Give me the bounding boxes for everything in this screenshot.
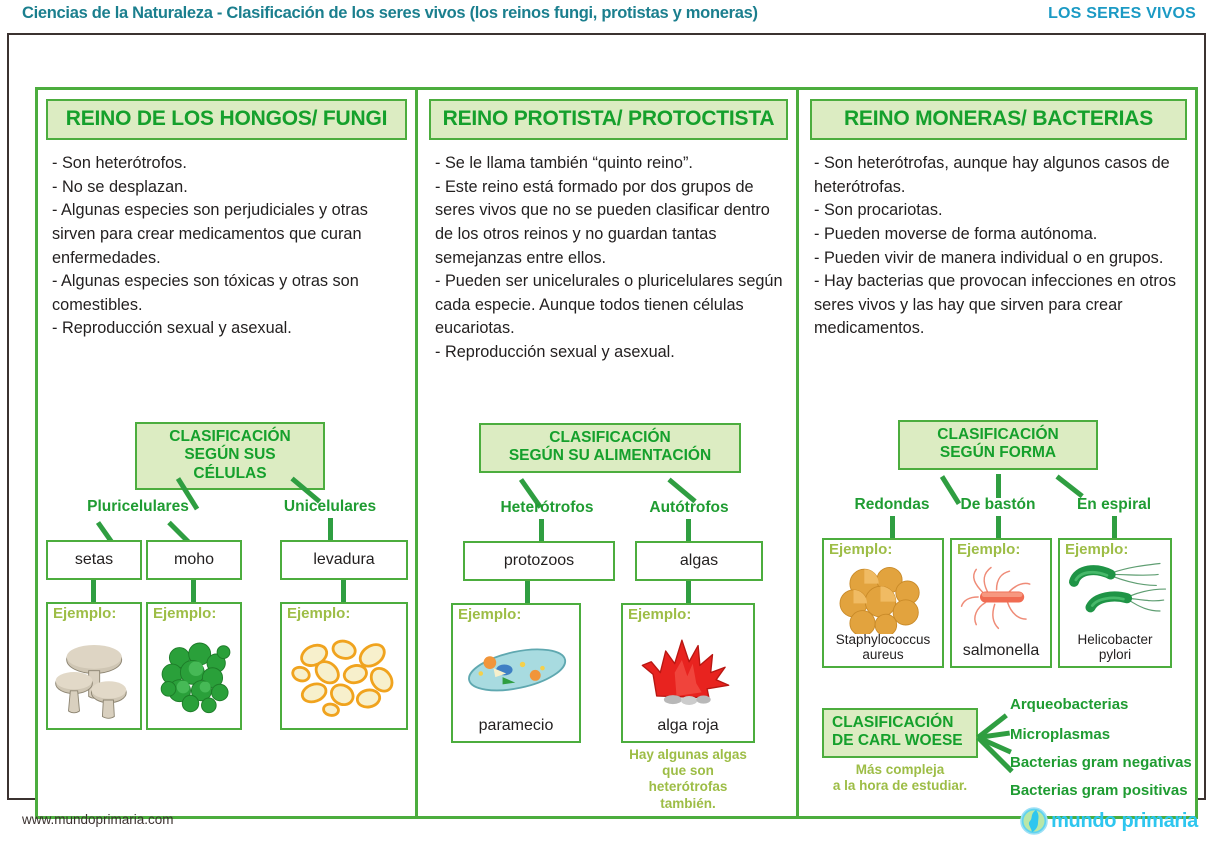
example-label: Ejemplo: bbox=[829, 541, 892, 558]
green-frame: REINO DE LOS HONGOS/ FUNGI - Son heterót… bbox=[35, 87, 1198, 819]
connector-line bbox=[191, 580, 196, 602]
woese-title-line2: DE CARL WOESE bbox=[832, 732, 966, 750]
term-box-protozoos: protozoos bbox=[463, 541, 615, 581]
paramecium-icon bbox=[459, 637, 577, 701]
category-label-en-espiral: En espiral bbox=[1052, 496, 1176, 514]
moneras-classification-box: CLASIFICACIÓN SEGÚN FORMA bbox=[898, 420, 1098, 470]
example-box-baston: Ejemplo: salmonella bbox=[950, 538, 1052, 668]
connector-line bbox=[328, 518, 333, 540]
bullet: - Este reino está formado por dos grupos… bbox=[435, 176, 784, 271]
bullet: - Pueden ser unicelurales o pluricelular… bbox=[435, 270, 784, 341]
algae-note-text: Hay algunas algas que son heterótrofas t… bbox=[629, 747, 747, 811]
column-header-fungi: REINO DE LOS HONGOS/ FUNGI bbox=[46, 99, 407, 140]
yeast-cells-icon bbox=[286, 628, 406, 724]
woese-title-line1: CLASIFICACIÓN bbox=[832, 714, 966, 732]
column-header-protista: REINO PROTISTA/ PROTOCTISTA bbox=[429, 99, 788, 140]
example-box-setas: Ejemplo: bbox=[46, 602, 142, 730]
cocci-cluster-icon bbox=[830, 562, 940, 634]
moneras-bullets: - Son heterótrofas, aunque hay algunos c… bbox=[814, 152, 1187, 341]
connector-line bbox=[341, 580, 346, 602]
term-box-setas: setas bbox=[46, 540, 142, 580]
classification-title-line1: CLASIFICACIÓN bbox=[491, 429, 729, 447]
connector-line bbox=[525, 581, 530, 603]
category-label-unicelulares: Unicelulares bbox=[260, 498, 400, 516]
bacillus-icon bbox=[956, 560, 1050, 634]
section-title: LOS SERES VIVOS bbox=[1048, 5, 1196, 23]
protista-bullets: - Se le llama también “quinto reino”. - … bbox=[435, 152, 784, 365]
species-name: alga roja bbox=[623, 717, 753, 735]
example-label: Ejemplo: bbox=[1065, 541, 1128, 558]
connector-line bbox=[91, 580, 96, 602]
example-label: Ejemplo: bbox=[153, 605, 216, 622]
bullet: - No se desplazan. bbox=[52, 176, 403, 200]
term-box-moho: moho bbox=[146, 540, 242, 580]
woese-item-gram-negativas: Bacterias gram negativas bbox=[1010, 754, 1192, 771]
bullet: - Hay bacterias que provocan infecciones… bbox=[814, 270, 1187, 341]
bullet: - Pueden vivir de manera individual o en… bbox=[814, 247, 1187, 271]
woese-item-microplasmas: Microplasmas bbox=[1010, 726, 1110, 743]
bullet: - Son heterótrofas, aunque hay algunos c… bbox=[814, 152, 1187, 199]
classification-title-line1: CLASIFICACIÓN bbox=[147, 428, 313, 446]
algae-note: Hay algunas algas que son heterótrofas t… bbox=[621, 747, 755, 812]
term-box-algas: algas bbox=[635, 541, 763, 581]
example-box-protozoos: Ejemplo: paramecio bbox=[451, 603, 581, 743]
species-name: salmonella bbox=[952, 642, 1050, 660]
example-label: Ejemplo: bbox=[458, 606, 521, 623]
woese-note: Más compleja a la hora de estudiar. bbox=[816, 762, 984, 794]
column-title-moneras: REINO MONERAS/ BACTERIAS bbox=[844, 107, 1153, 130]
category-label-pluricelulares: Pluricelulares bbox=[68, 498, 208, 516]
page-header-bar: Ciencias de la Naturaleza - Clasificació… bbox=[0, 0, 1214, 33]
mushrooms-icon bbox=[52, 630, 140, 726]
red-algae-icon bbox=[629, 633, 751, 705]
connector-line bbox=[686, 581, 691, 603]
content-frame: REINO DE LOS HONGOS/ FUNGI - Son heterót… bbox=[7, 33, 1206, 800]
woese-note-line2: a la hora de estudiar. bbox=[816, 778, 984, 794]
woese-note-line1: Más compleja bbox=[816, 762, 984, 778]
species-name: Helicobacter pylori bbox=[1060, 632, 1170, 662]
connector-line bbox=[996, 474, 1001, 498]
spirillum-icon bbox=[1064, 558, 1170, 622]
example-box-algas: Ejemplo: alga roja bbox=[621, 603, 755, 743]
column-title-protista: REINO PROTISTA/ PROTOCTISTA bbox=[443, 107, 775, 130]
globe-icon bbox=[1020, 807, 1048, 835]
species-name: paramecio bbox=[453, 717, 579, 735]
classification-title-line2: SEGÚN SU ALIMENTACIÓN bbox=[491, 447, 729, 465]
bullet: - Reproducción sexual y asexual. bbox=[435, 341, 784, 365]
bullet: - Se le llama también “quinto reino”. bbox=[435, 152, 784, 176]
logo-text: mundo primaria bbox=[1051, 810, 1198, 833]
connector-line bbox=[539, 519, 544, 541]
woese-item-arqueobacterias: Arqueobacterias bbox=[1010, 696, 1128, 713]
connector-line bbox=[686, 519, 691, 541]
bullet: - Algunas especies son perjudiciales y o… bbox=[52, 199, 403, 270]
example-box-levadura: Ejemplo: bbox=[280, 602, 408, 730]
example-box-moho: Ejemplo: bbox=[146, 602, 242, 730]
woese-item-gram-positivas: Bacterias gram positivas bbox=[1010, 782, 1188, 799]
bullet: - Son procariotas. bbox=[814, 199, 1187, 223]
fungi-bullets: - Son heterótrofos. - No se desplazan. -… bbox=[52, 152, 403, 341]
column-protista: REINO PROTISTA/ PROTOCTISTA - Se le llam… bbox=[421, 90, 799, 816]
category-label-autotrofos: Autótrofos bbox=[619, 499, 759, 517]
woese-classification-box: CLASIFICACIÓN DE CARL WOESE bbox=[822, 708, 978, 758]
bullet: - Reproducción sexual y asexual. bbox=[52, 317, 403, 341]
column-fungi: REINO DE LOS HONGOS/ FUNGI - Son heterót… bbox=[38, 90, 418, 816]
example-label: Ejemplo: bbox=[287, 605, 350, 622]
bullet: - Algunas especies son tóxicas y otras s… bbox=[52, 270, 403, 317]
example-box-espiral: Ejemplo: Helicobacter pylori bbox=[1058, 538, 1172, 668]
bullet: - Pueden moverse de forma autónoma. bbox=[814, 223, 1187, 247]
classification-title-line2: SEGÚN FORMA bbox=[910, 444, 1086, 462]
example-label: Ejemplo: bbox=[957, 541, 1020, 558]
connector-line bbox=[996, 516, 1001, 538]
bullet: - Son heterótrofos. bbox=[52, 152, 403, 176]
connector-line bbox=[1055, 475, 1083, 499]
column-header-moneras: REINO MONERAS/ BACTERIAS bbox=[810, 99, 1187, 140]
column-moneras: REINO MONERAS/ BACTERIAS - Son heterótro… bbox=[802, 90, 1195, 816]
example-box-redondas: Ejemplo: Staphylococcus aureus bbox=[822, 538, 944, 668]
example-label: Ejemplo: bbox=[628, 606, 691, 623]
footer-url[interactable]: www.mundoprimaria.com bbox=[22, 812, 174, 827]
term-box-levadura: levadura bbox=[280, 540, 408, 580]
species-name: Staphylococcus aureus bbox=[824, 632, 942, 662]
connector-line bbox=[1112, 516, 1117, 538]
example-label: Ejemplo: bbox=[53, 605, 116, 622]
page-title: Ciencias de la Naturaleza - Clasificació… bbox=[22, 4, 758, 23]
mold-spores-icon bbox=[152, 628, 240, 724]
column-title-fungi: REINO DE LOS HONGOS/ FUNGI bbox=[66, 107, 388, 130]
protista-classification-box: CLASIFICACIÓN SEGÚN SU ALIMENTACIÓN bbox=[479, 423, 741, 473]
site-logo[interactable]: mundo primaria bbox=[1020, 807, 1198, 835]
classification-title-line2: SEGÚN SUS CÉLULAS bbox=[147, 446, 313, 483]
classification-title-line1: CLASIFICACIÓN bbox=[910, 426, 1086, 444]
category-label-heterotrofos: Heterótrofos bbox=[477, 499, 617, 517]
category-label-de-baston: De bastón bbox=[936, 496, 1060, 514]
connector-line bbox=[890, 516, 895, 538]
